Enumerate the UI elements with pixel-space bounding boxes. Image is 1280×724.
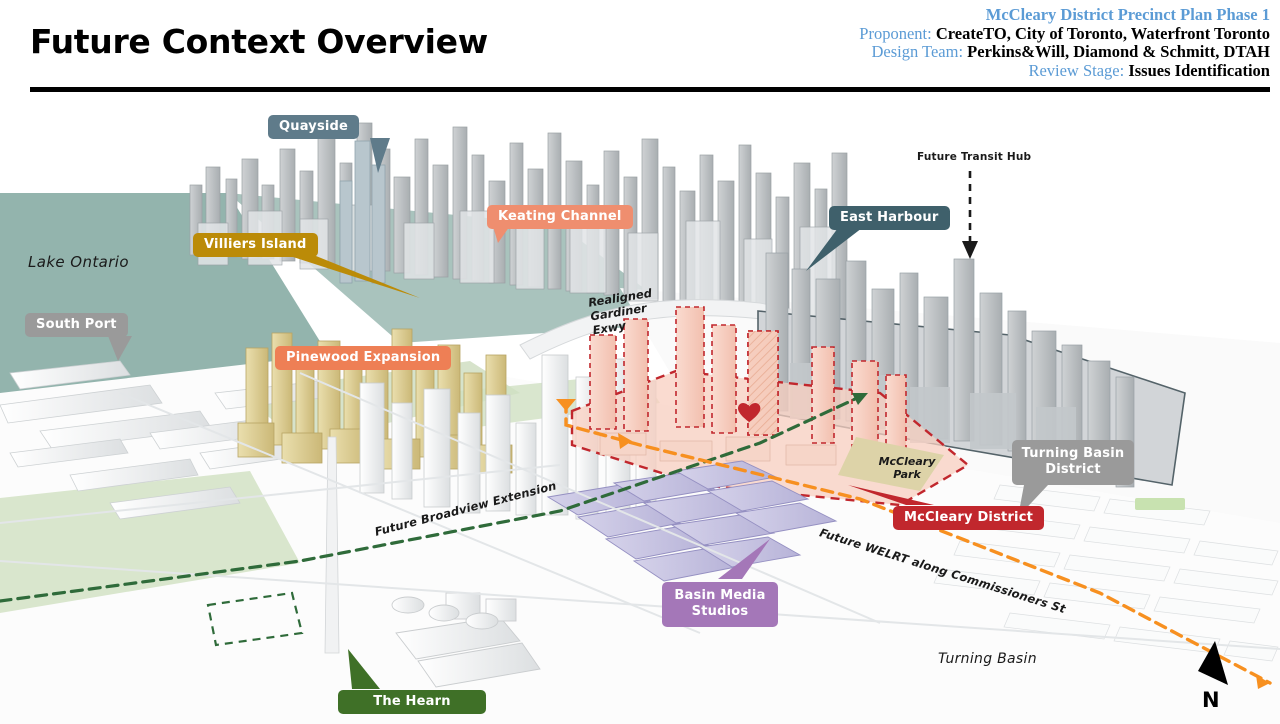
callout-quayside[interactable]: Quayside: [268, 115, 359, 139]
callout-villiers-island[interactable]: Villiers Island: [193, 233, 318, 257]
transit-hub-arrowhead: [962, 241, 978, 259]
page-title: Future Context Overview: [30, 22, 488, 61]
callout-turning-basin-district[interactable]: Turning Basin District: [1012, 440, 1134, 485]
east-green-patch: [1135, 498, 1185, 510]
review-stage-line: Review Stage: Issues Identification: [859, 62, 1270, 81]
header-divider: [30, 87, 1270, 92]
map-illustration: [0, 93, 1280, 724]
proponent-label: Proponent:: [859, 24, 931, 43]
compass-north-label: N: [1202, 688, 1220, 712]
project-meta-block: McCleary District Precinct Plan Phase 1 …: [859, 6, 1270, 80]
review-stage-value: Issues Identification: [1128, 61, 1270, 80]
aerial-context-map: Quayside Keating Channel Villiers Island…: [0, 93, 1280, 724]
callout-keating-channel[interactable]: Keating Channel: [487, 205, 633, 229]
annotation-lake-ontario: Lake Ontario: [28, 253, 129, 271]
annotation-future-transit-hub: Future Transit Hub: [917, 151, 1031, 163]
project-title: McCleary District Precinct Plan Phase 1: [859, 6, 1270, 25]
callout-south-port[interactable]: South Port: [25, 313, 128, 337]
callout-the-hearn[interactable]: The Hearn: [338, 690, 486, 714]
design-team-line: Design Team: Perkins&Will, Diamond & Sch…: [859, 43, 1270, 62]
design-team-value: Perkins&Will, Diamond & Schmitt, DTAH: [967, 42, 1270, 61]
annotation-mccleary-park: McCleary Park: [876, 455, 938, 481]
callout-basin-media-studios[interactable]: Basin Media Studios: [662, 582, 778, 627]
callout-mccleary-district[interactable]: McCleary District: [893, 506, 1044, 530]
design-team-label: Design Team:: [871, 42, 963, 61]
proponent-line: Proponent: CreateTO, City of Toronto, Wa…: [859, 25, 1270, 44]
slide-header: Future Context Overview McCleary Distric…: [0, 0, 1280, 92]
slide-root: Future Context Overview McCleary Distric…: [0, 0, 1280, 724]
proponent-value: CreateTO, City of Toronto, Waterfront To…: [936, 24, 1270, 43]
callout-east-harbour[interactable]: East Harbour: [829, 206, 950, 230]
review-stage-label: Review Stage:: [1028, 61, 1124, 80]
callout-pinewood-expansion[interactable]: Pinewood Expansion: [275, 346, 451, 370]
annotation-turning-basin: Turning Basin: [938, 651, 1037, 667]
